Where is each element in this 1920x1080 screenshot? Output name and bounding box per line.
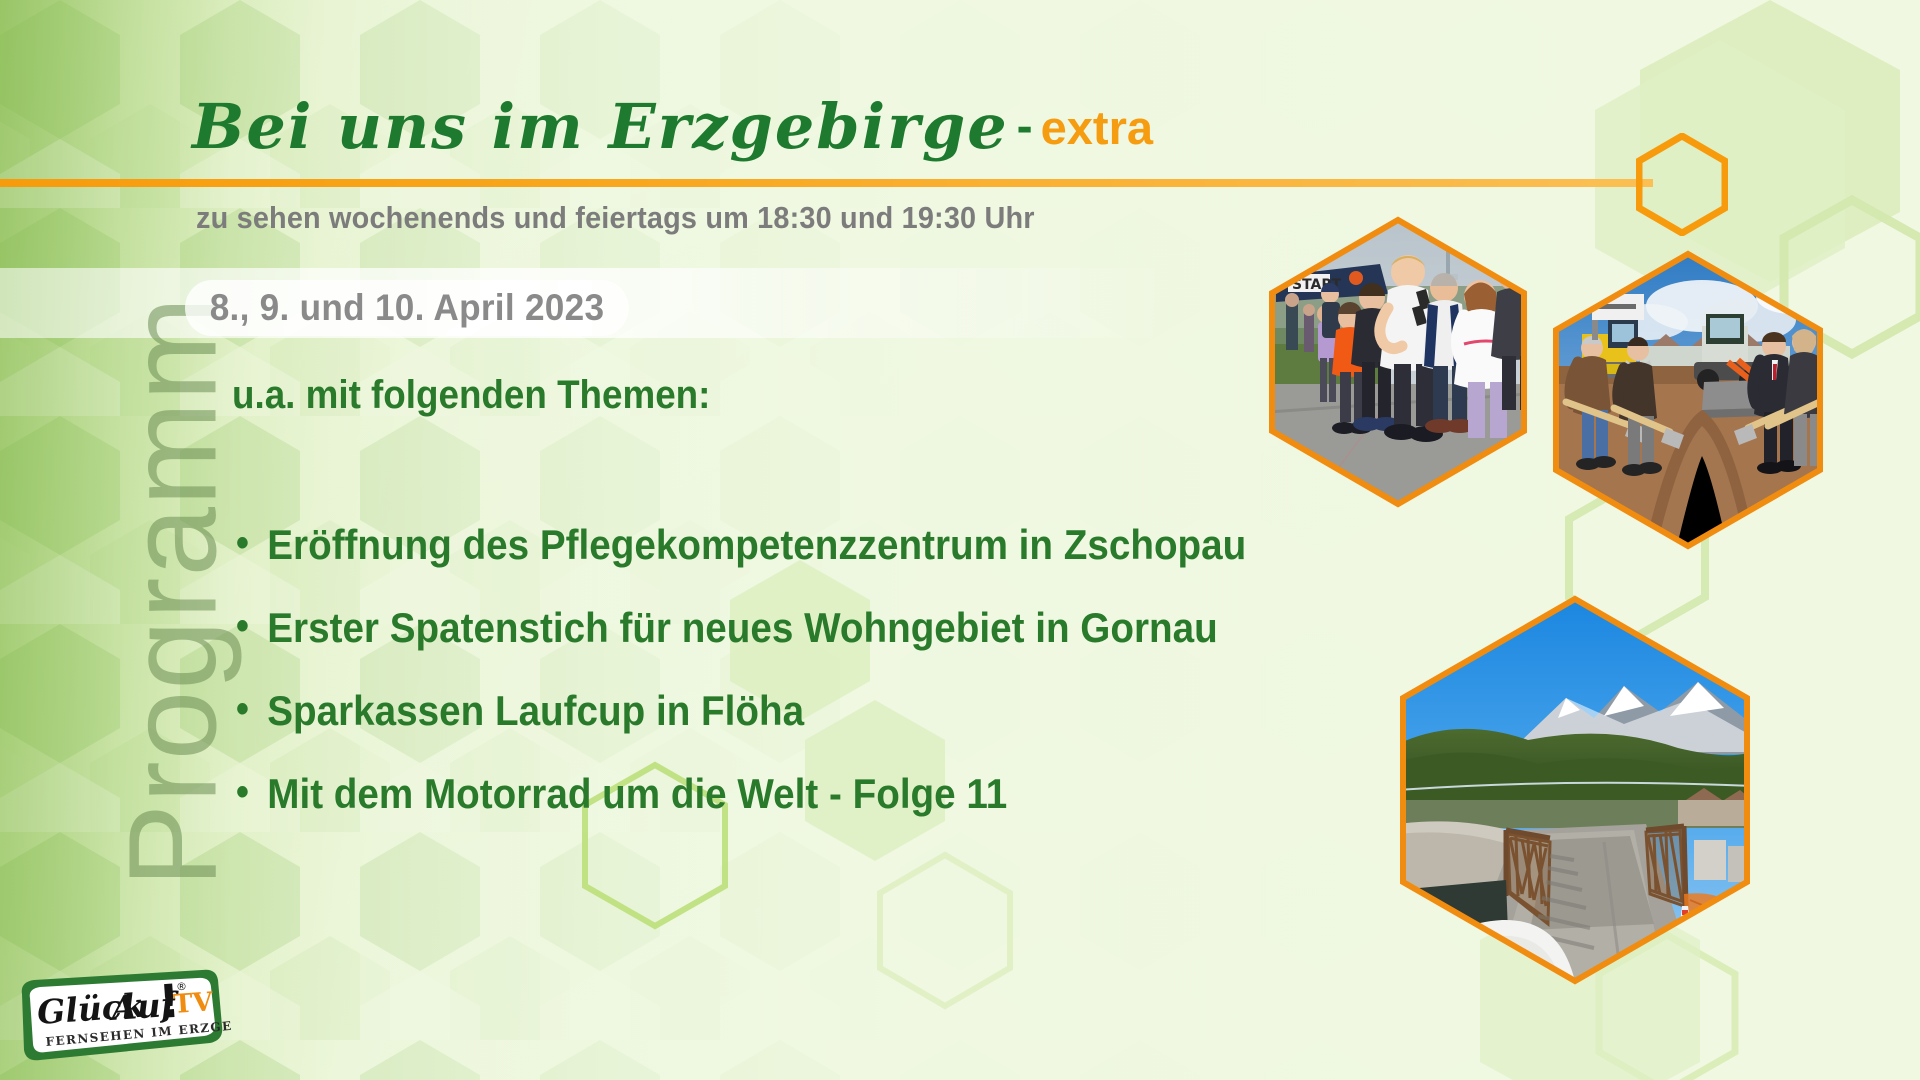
list-item: Sparkassen Laufcup in Flöha <box>236 690 1246 732</box>
topics-list: Eröffnung des Pflegekompetenzzentrum in … <box>236 524 1334 856</box>
page-title-script: Bei uns im Erzgebirge <box>192 90 1009 163</box>
page-title-extra: extra <box>1041 101 1153 154</box>
orange-divider-rule <box>0 179 1653 187</box>
page-title: Bei uns im Erzgebirge-extra <box>192 96 1153 158</box>
svg-text:TV: TV <box>172 987 214 1020</box>
broadcast-slide: Programm Bei uns im Erzgebirge-extra zu … <box>0 0 1920 1080</box>
photo-spatenstich <box>1552 250 1824 550</box>
topics-intro-label: u.a. mit folgenden Themen: <box>232 373 710 418</box>
photo-motorrad-bruecke <box>1398 594 1752 986</box>
list-item: Eröffnung des Pflegekompetenzzentrum in … <box>236 524 1246 566</box>
list-item: Erster Spatenstich für neues Wohngebiet … <box>236 607 1246 649</box>
broadcast-times-subtitle: zu sehen wochenends und feiertags um 18:… <box>196 200 1035 236</box>
date-badge: 8., 9. und 10. April 2023 <box>185 280 629 336</box>
page-title-dash: - <box>1009 100 1041 153</box>
orange-hexagon-outline-icon <box>1636 133 1728 236</box>
photo-laufcup-start: START <box>1268 216 1528 508</box>
programm-vertical-label: Programm <box>102 232 245 952</box>
list-item: Mit dem Motorrad um die Welt - Folge 11 <box>236 773 1246 815</box>
glueckauf-tv-logo: Glück Auf ! ® TV FERNSEHEN IM ERZGEBIRGE <box>16 968 232 1066</box>
